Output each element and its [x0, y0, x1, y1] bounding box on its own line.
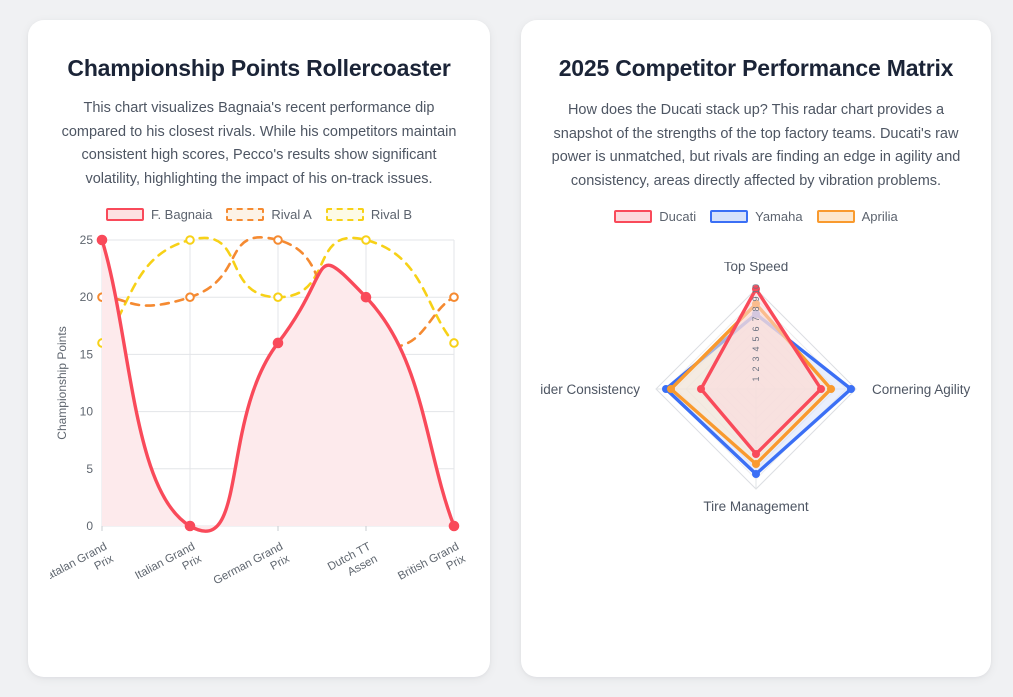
x-axis-tick: Italian GrandPrix [133, 541, 204, 586]
data-point[interactable] [274, 237, 282, 245]
legend-swatch-rival-a [226, 208, 264, 221]
y-axis-tick: 0 [86, 519, 93, 533]
radar-chart-svg[interactable]: 12345678910Top SpeedCornering AgilityTir… [541, 262, 971, 527]
radar-radial-tick: 2 [751, 367, 761, 372]
legend-label-aprilia: Aprilia [862, 209, 898, 224]
radar-radial-tick: 9 [751, 297, 761, 302]
legend-label-yamaha: Yamaha [755, 209, 802, 224]
radar-axis-label: Top Speed [724, 262, 789, 274]
data-point[interactable] [98, 236, 106, 244]
radar-axis-label: Cornering Agility [872, 382, 971, 397]
radar-point[interactable] [667, 385, 675, 393]
line-chart-legend: F. Bagnaia Rival A Rival B [106, 207, 412, 222]
legend-item-rival-a[interactable]: Rival A [226, 207, 311, 222]
line-chart[interactable]: 0510152025Championship PointsCatalan Gra… [50, 226, 468, 591]
legend-item-aprilia[interactable]: Aprilia [817, 209, 898, 224]
data-point[interactable] [450, 522, 458, 530]
legend-swatch-rival-b [326, 208, 364, 221]
dashboard-page: Championship Points Rollercoaster This c… [0, 0, 1013, 697]
radar-radial-tick: 5 [751, 337, 761, 342]
radar-title: 2025 Competitor Performance Matrix [559, 54, 954, 83]
y-axis-tick: 15 [80, 348, 94, 362]
competitor-matrix-card: 2025 Competitor Performance Matrix How d… [521, 20, 991, 677]
legend-item-ducati[interactable]: Ducati [614, 209, 696, 224]
radar-description: How does the Ducati stack up? This radar… [547, 99, 965, 193]
radar-radial-tick: 3 [751, 357, 761, 362]
radar-radial-tick: 10 [751, 284, 761, 294]
radar-radial-tick: 1 [751, 377, 761, 382]
radar-radial-tick: 8 [751, 307, 761, 312]
radar-radial-tick: 7 [751, 317, 761, 322]
data-point[interactable] [274, 294, 282, 302]
radar-radial-tick: 6 [751, 327, 761, 332]
legend-label-rival-a: Rival A [271, 207, 311, 222]
x-axis-tick: German GrandPrix [212, 541, 292, 586]
radar-point[interactable] [752, 450, 760, 458]
data-point[interactable] [362, 237, 370, 245]
line-chart-svg[interactable]: 0510152025Championship PointsCatalan Gra… [50, 226, 468, 586]
data-point[interactable] [450, 294, 458, 302]
chart-description: This chart visualizes Bagnaia's recent p… [54, 97, 464, 191]
x-axis-tick: Dutch TTAssen [326, 541, 380, 586]
y-axis-tick: 25 [80, 233, 94, 247]
radar-point[interactable] [827, 385, 835, 393]
y-axis-tick: 10 [80, 405, 94, 419]
legend-swatch-bagnaia [106, 208, 144, 221]
page-title: Championship Points Rollercoaster [67, 54, 450, 83]
radar-axis-label: Rider Consistency [541, 382, 640, 397]
legend-swatch-aprilia [817, 210, 855, 223]
legend-label-rival-b: Rival B [371, 207, 412, 222]
radar-point[interactable] [817, 385, 825, 393]
y-axis-tick: 5 [86, 462, 93, 476]
y-axis-tick: 20 [80, 291, 94, 305]
radar-point[interactable] [697, 385, 705, 393]
legend-item-yamaha[interactable]: Yamaha [710, 209, 802, 224]
data-point[interactable] [362, 293, 370, 301]
radar-axis-label: Tire Management [703, 499, 809, 514]
radar-chart-legend: Ducati Yamaha Aprilia [614, 209, 897, 224]
data-point[interactable] [186, 522, 194, 530]
legend-label-bagnaia: F. Bagnaia [151, 207, 212, 222]
championship-points-card: Championship Points Rollercoaster This c… [28, 20, 490, 677]
radar-point[interactable] [847, 385, 855, 393]
data-point[interactable] [450, 340, 458, 348]
legend-swatch-yamaha [710, 210, 748, 223]
x-axis-tick: Catalan GrandPrix [50, 541, 116, 586]
radar-point[interactable] [752, 470, 760, 478]
radar-chart[interactable]: 12345678910Top SpeedCornering AgilityTir… [541, 262, 971, 532]
radar-point[interactable] [752, 460, 760, 468]
x-axis-tick: British GrandPrix [396, 541, 468, 586]
legend-swatch-ducati [614, 210, 652, 223]
data-point[interactable] [186, 294, 194, 302]
legend-item-bagnaia[interactable]: F. Bagnaia [106, 207, 212, 222]
data-point[interactable] [274, 339, 282, 347]
radar-radial-tick: 4 [751, 347, 761, 352]
data-point[interactable] [186, 237, 194, 245]
legend-label-ducati: Ducati [659, 209, 696, 224]
y-axis-title: Championship Points [55, 327, 69, 440]
legend-item-rival-b[interactable]: Rival B [326, 207, 412, 222]
